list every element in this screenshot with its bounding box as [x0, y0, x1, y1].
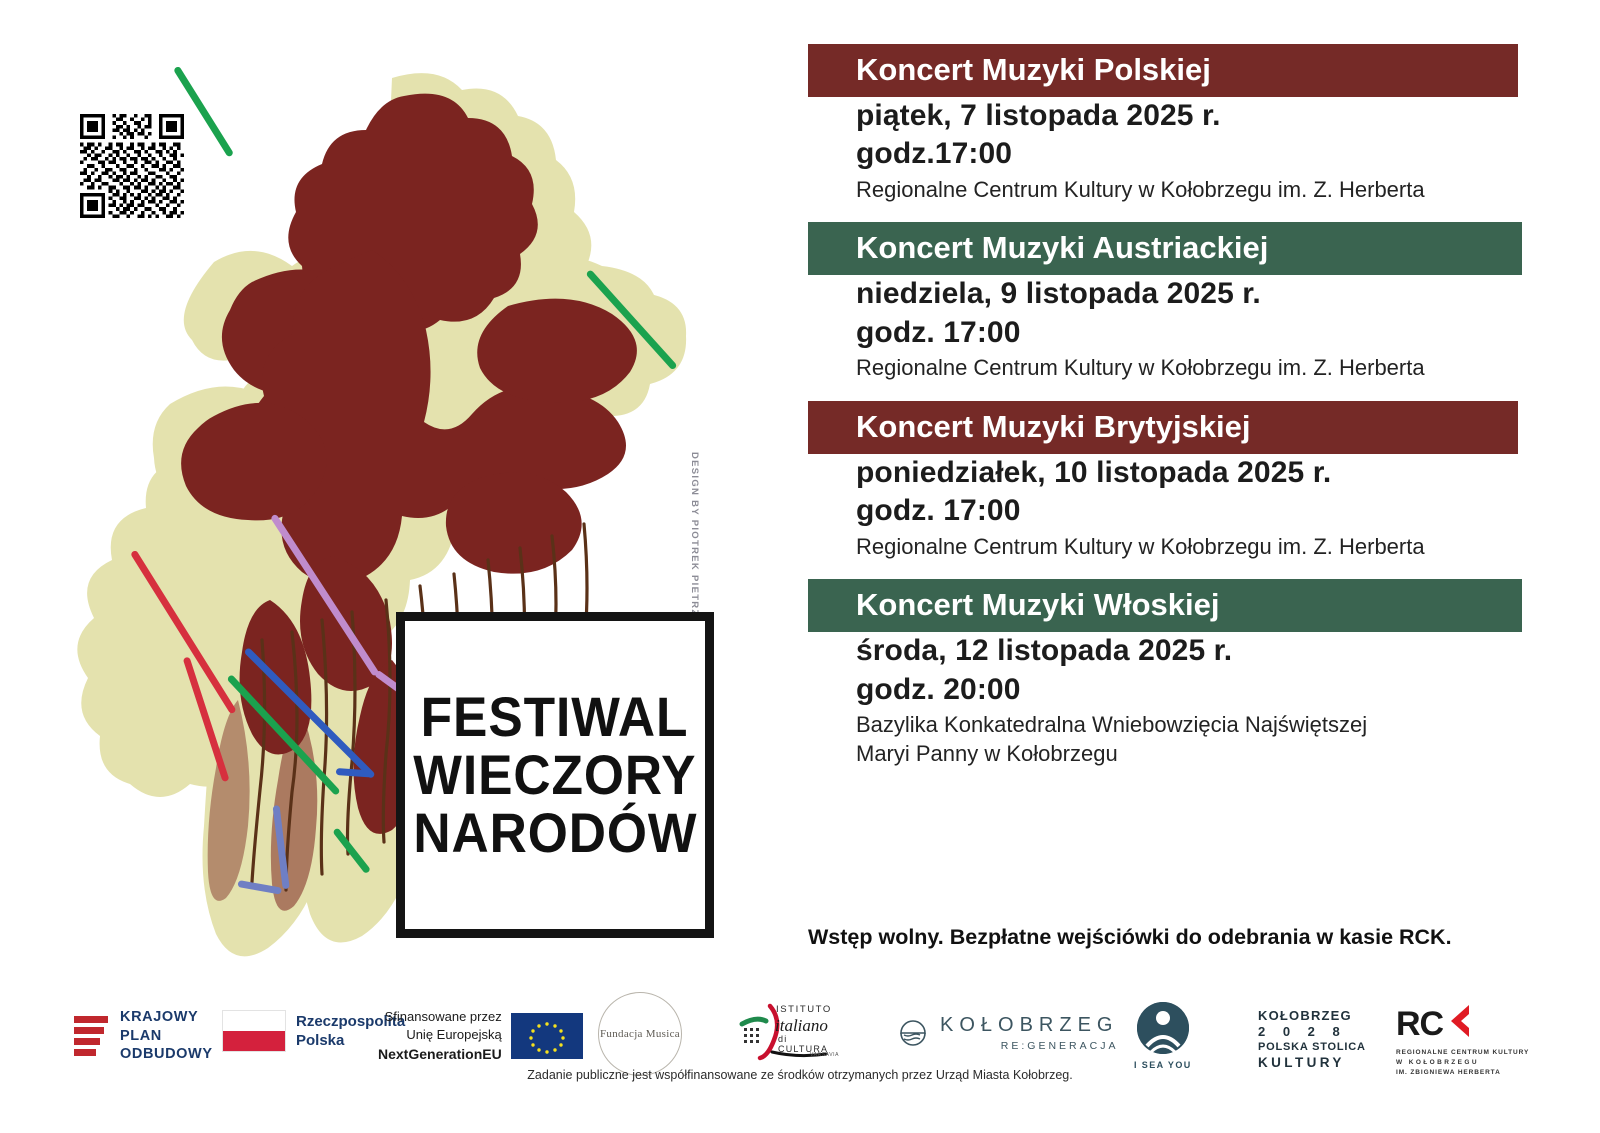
logo-istituto-italiano-cultura: ISTITUTO italiano di CULTURA VARSAVIA [736, 1000, 836, 1062]
title-line-1: FESTIWAL [421, 688, 689, 746]
concert-time: godz. 17:00 [808, 492, 1508, 530]
concert-date: poniedziałek, 10 listopada 2025 r. [808, 454, 1508, 492]
concert-title-bar: Koncert Muzyki Austriackiej [808, 222, 1522, 275]
kpo-line-3: ODBUDOWY [120, 1045, 213, 1064]
logo-i-sea-you: I SEA YOU [1134, 1002, 1192, 1070]
rck-sub-1: REGIONALNE CENTRUM KULTURY [1396, 1048, 1529, 1058]
concert-venue: Bazylika Konkatedralna Wniebowzięcia Naj… [808, 711, 1508, 740]
concert-venue: Regionalne Centrum Kultury w Kołobrzegu … [808, 533, 1508, 562]
logo-kolobrzeg-2028: KOŁOBRZEG 2 0 2 8 POLSKA STOLICA KULTURY [1258, 1008, 1366, 1070]
logo-krajowy-plan-odbudowy: KRAJOWY PLAN ODBUDOWY [74, 1008, 213, 1064]
rck-sub-2: W KOŁOBRZEGU [1396, 1058, 1529, 1068]
polish-flag-icon [222, 1010, 286, 1052]
rck-name: RC [1396, 1007, 1443, 1041]
kolobrzeg-tagline: RE:GENERACJA [940, 1040, 1118, 1052]
concert-time: godz.17:00 [808, 135, 1508, 173]
concert-time: godz. 17:00 [808, 314, 1508, 352]
k2028-line-3: POLSKA STOLICA [1258, 1041, 1366, 1053]
kolobrzeg-name: KOŁOBRZEG [940, 1014, 1118, 1037]
concert-venue-line2: Maryi Panny w Kołobrzegu [808, 740, 1508, 769]
fundacja-circle-icon: Fundacja Musica [598, 992, 682, 1076]
logo-fundacja-musica: Fundacja Musica [598, 992, 682, 1076]
iic-line-3: di CULTURA [778, 1034, 836, 1054]
i-sea-you-icon [1137, 1002, 1189, 1054]
k2028-line-2: 2 0 2 8 [1258, 1024, 1347, 1039]
concert-title-bar: Koncert Muzyki Brytyjskiej [808, 401, 1518, 454]
concert-title-bar: Koncert Muzyki Polskiej [808, 44, 1518, 97]
concert-time: godz. 20:00 [808, 671, 1508, 709]
kpo-line-2: PLAN [120, 1027, 213, 1046]
logo-kolobrzeg-regeneracja: KOŁOBRZEG RE:GENERACJA [898, 1014, 1118, 1052]
k2028-line-1: KOŁOBRZEG [1258, 1008, 1352, 1023]
kpo-line-1: KRAJOWY [120, 1008, 213, 1027]
concert-item-austriacka: Koncert Muzyki Austriackiej niedziela, 9… [808, 222, 1508, 382]
poster-artwork: DESIGN BY PIOTREK PIETRZAK FESTIWAL WIEC… [0, 0, 790, 990]
eu-line-3: NextGenerationEU [378, 1046, 502, 1062]
fundacja-label: Fundacja Musica [600, 1028, 680, 1040]
title-line-3: NARODÓW [413, 804, 697, 862]
concert-item-brytyjska: Koncert Muzyki Brytyjskiej poniedziałek,… [808, 401, 1508, 561]
iic-line-1: ISTITUTO [776, 1004, 832, 1015]
concert-venue: Regionalne Centrum Kultury w Kołobrzegu … [808, 354, 1508, 383]
festival-title-box: FESTIWAL WIECZORY NARODÓW [396, 612, 714, 938]
eu-line-2: Unię Europejską [378, 1026, 502, 1044]
iic-line-2: italiano [775, 1016, 828, 1036]
concert-title-bar: Koncert Muzyki Włoskiej [808, 579, 1522, 632]
kpo-mark-icon [74, 1014, 110, 1058]
iic-line-4: VARSAVIA [810, 1052, 839, 1058]
public-funding-note: Zadanie publiczne jest współfinansowane … [0, 1068, 1600, 1082]
concert-date: niedziela, 9 listopada 2025 r. [808, 275, 1508, 313]
concert-list: Koncert Muzyki Polskiej piątek, 7 listop… [808, 44, 1508, 786]
admission-note: Wstęp wolny. Bezpłatne wejściówki do ode… [808, 925, 1528, 950]
designer-credit: DESIGN BY PIOTREK PIETRZAK [689, 452, 700, 612]
logo-european-union: Sfinansowane przez Unię Europejską NextG… [378, 1008, 583, 1065]
concert-item-polska: Koncert Muzyki Polskiej piątek, 7 listop… [808, 44, 1508, 204]
concert-item-wloska: Koncert Muzyki Włoskiej środa, 12 listop… [808, 579, 1508, 768]
concert-venue: Regionalne Centrum Kultury w Kołobrzegu … [808, 176, 1508, 205]
eu-flag-icon [511, 1013, 583, 1059]
concert-date: piątek, 7 listopada 2025 r. [808, 97, 1508, 135]
logo-rck: RC REGIONALNE CENTRUM KULTURY W KOŁOBRZE… [1396, 1004, 1529, 1077]
rck-chevron-icon [1445, 1004, 1471, 1044]
title-line-2: WIECZORY [413, 746, 696, 804]
kolobrzeg-wave-icon [898, 1018, 928, 1048]
eu-line-1: Sfinansowane przez [378, 1008, 502, 1026]
concert-date: środa, 12 listopada 2025 r. [808, 632, 1508, 670]
